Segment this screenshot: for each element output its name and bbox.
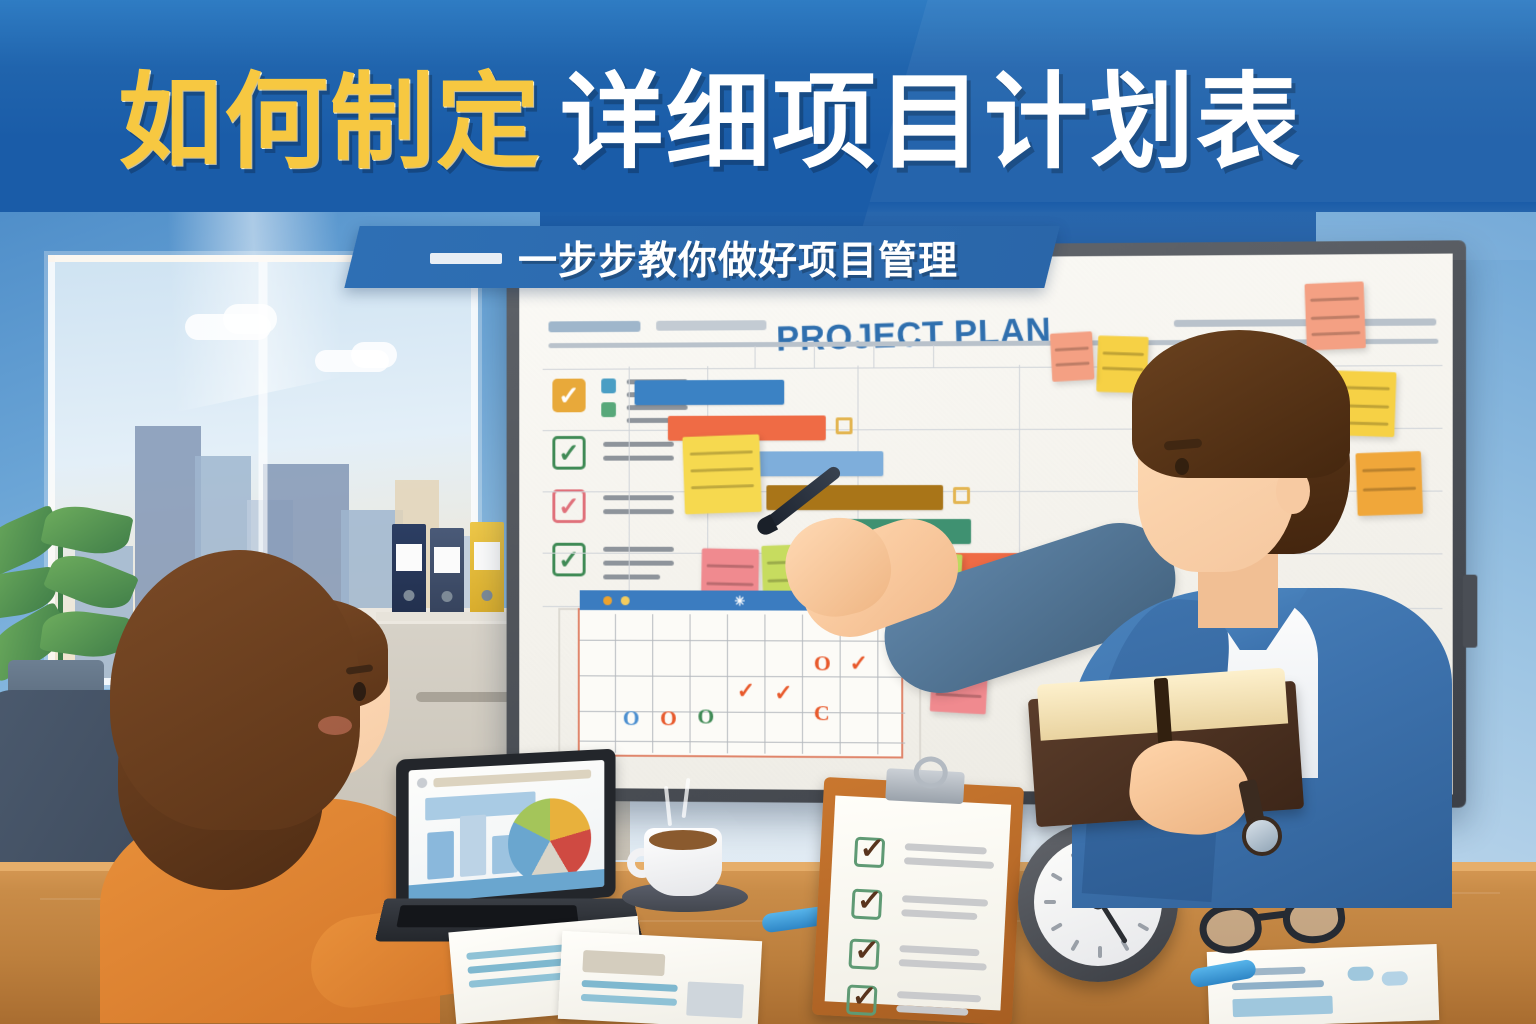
subtitle-text: 一步步教你做好项目管理: [518, 230, 958, 286]
clipboard-check-3[interactable]: ✓: [848, 938, 880, 970]
whiteboard-mount: [1463, 575, 1477, 648]
checklist-tag-green: [601, 402, 616, 417]
calendar-mark-5: ✓: [774, 680, 792, 706]
calendar-header-icon: ✳: [734, 594, 745, 610]
page-title: 如何制定详细项目计划表: [118, 68, 1302, 177]
screen-avatar-icon: [417, 778, 427, 789]
calendar-mark-1: O: [623, 705, 640, 731]
poster-canvas: PROJECT PLAN ✓ ✓ ✓ ✓: [0, 0, 1536, 1024]
coffee-liquid: [649, 830, 717, 850]
checklist-check-4: ✓: [552, 543, 585, 577]
coffee-cup: [636, 828, 728, 900]
milestone-2: [953, 487, 970, 504]
calendar-dot-yellow: [621, 596, 630, 605]
sticky-note-yellow-left[interactable]: [682, 434, 761, 514]
glasses-lens-left: [1197, 900, 1265, 957]
woman-eye: [353, 682, 366, 701]
checklist-tag-blue: [601, 378, 616, 393]
header-line-1: [548, 321, 640, 332]
laptop-lid: [396, 749, 615, 917]
man-hair: [1132, 330, 1350, 478]
paper-center: [558, 931, 762, 1024]
wristwatch-face: [1242, 816, 1282, 856]
checklist-check-1: ✓: [552, 379, 585, 413]
checklist-check-2: ✓: [552, 436, 585, 470]
subtitle: 一步步教你做好项目管理: [430, 234, 958, 282]
header-line-2: [656, 320, 766, 331]
man-eye: [1175, 458, 1189, 475]
screen-bar-1: [427, 831, 454, 880]
milestone-1: [836, 417, 853, 434]
calendar-mark-4: ✓: [737, 678, 755, 704]
checklist-check-3: ✓: [552, 489, 585, 523]
gantt-bar-1: [635, 380, 785, 405]
laptop-screen[interactable]: [409, 760, 605, 904]
calendar-mark-7: ✓: [850, 651, 868, 677]
calendar-dot-orange: [603, 596, 612, 605]
calendar-mark-6: O: [814, 650, 831, 676]
clipboard-check-4[interactable]: ✓: [846, 984, 878, 1016]
calendar-mark-8: C: [814, 700, 830, 726]
title-highlight: 如何制定: [118, 61, 542, 183]
title-main: 详细项目计划表: [560, 61, 1302, 183]
woman-hair: [110, 550, 360, 830]
calendar-mark-3: O: [697, 704, 714, 730]
clipboard-clip: [885, 768, 965, 804]
clipboard-check-2[interactable]: ✓: [851, 889, 883, 921]
calendar-mark-2: O: [660, 705, 677, 731]
clipboard[interactable]: ✓ ✓ ✓ ✓: [812, 777, 1024, 1024]
screen-toolbar: [433, 769, 591, 787]
clipboard-paper: ✓ ✓ ✓ ✓: [825, 796, 1012, 1011]
subtitle-dash-icon: [430, 253, 502, 264]
clipboard-check-1[interactable]: ✓: [854, 837, 886, 869]
screen-bar-2: [460, 815, 486, 878]
